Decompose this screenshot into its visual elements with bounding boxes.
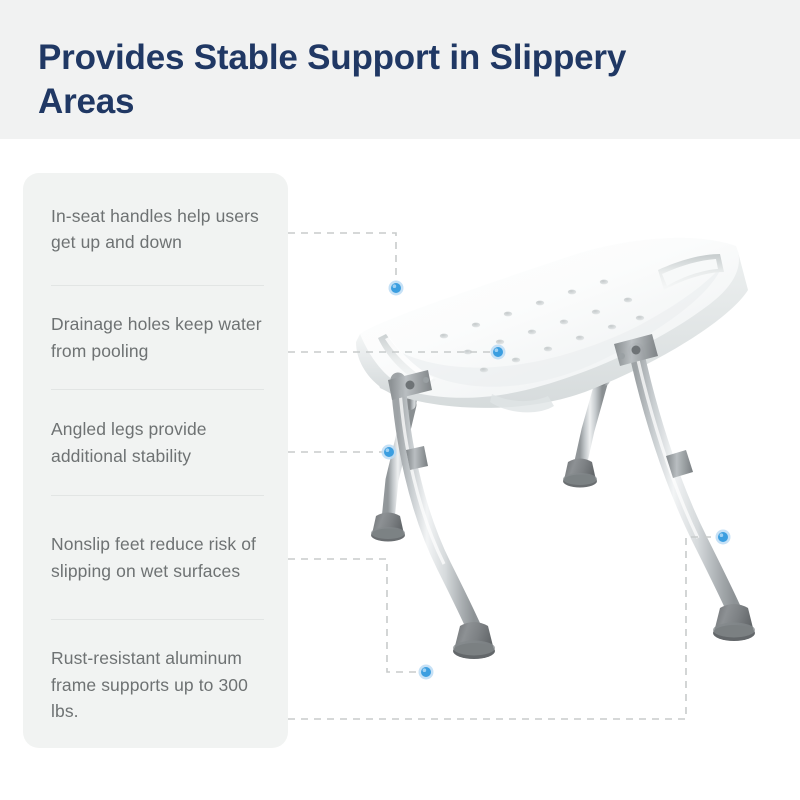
rear-right-leg — [580, 380, 602, 466]
rubber-foot-front-left — [453, 622, 495, 659]
feature-text: Drainage holes keep water from pooling — [51, 311, 266, 364]
feature-item-drainage-holes: Drainage holes keep water from pooling — [23, 286, 288, 389]
feature-item-nonslip-feet: Nonslip feet reduce risk of slipping on … — [23, 496, 288, 619]
rubber-foot-front-right — [713, 604, 755, 641]
feature-text: In-seat handles help users get up and do… — [51, 203, 266, 256]
page-title: Provides Stable Support in Slippery Area… — [38, 36, 638, 124]
height-adjust-collar-left — [406, 446, 428, 470]
feature-item-angled-legs: Angled legs provide additional stability — [23, 390, 288, 495]
rubber-foot-rear-right — [563, 459, 597, 488]
rubber-foot-rear-left — [371, 513, 405, 542]
feature-text: Nonslip feet reduce risk of slipping on … — [51, 531, 266, 584]
infographic-page: Provides Stable Support in Slippery Area… — [0, 0, 800, 800]
feature-text: Angled legs provide additional stability — [51, 416, 266, 469]
feature-panel: In-seat handles help users get up and do… — [23, 173, 288, 748]
feature-item-in-seat-handles: In-seat handles help users get up and do… — [23, 173, 288, 285]
product-image-shower-chair — [340, 230, 800, 710]
feature-item-rust-resistant: Rust-resistant aluminum frame supports u… — [23, 620, 288, 750]
feature-text: Rust-resistant aluminum frame supports u… — [51, 645, 266, 725]
aluminum-leg-front-right — [636, 350, 734, 610]
